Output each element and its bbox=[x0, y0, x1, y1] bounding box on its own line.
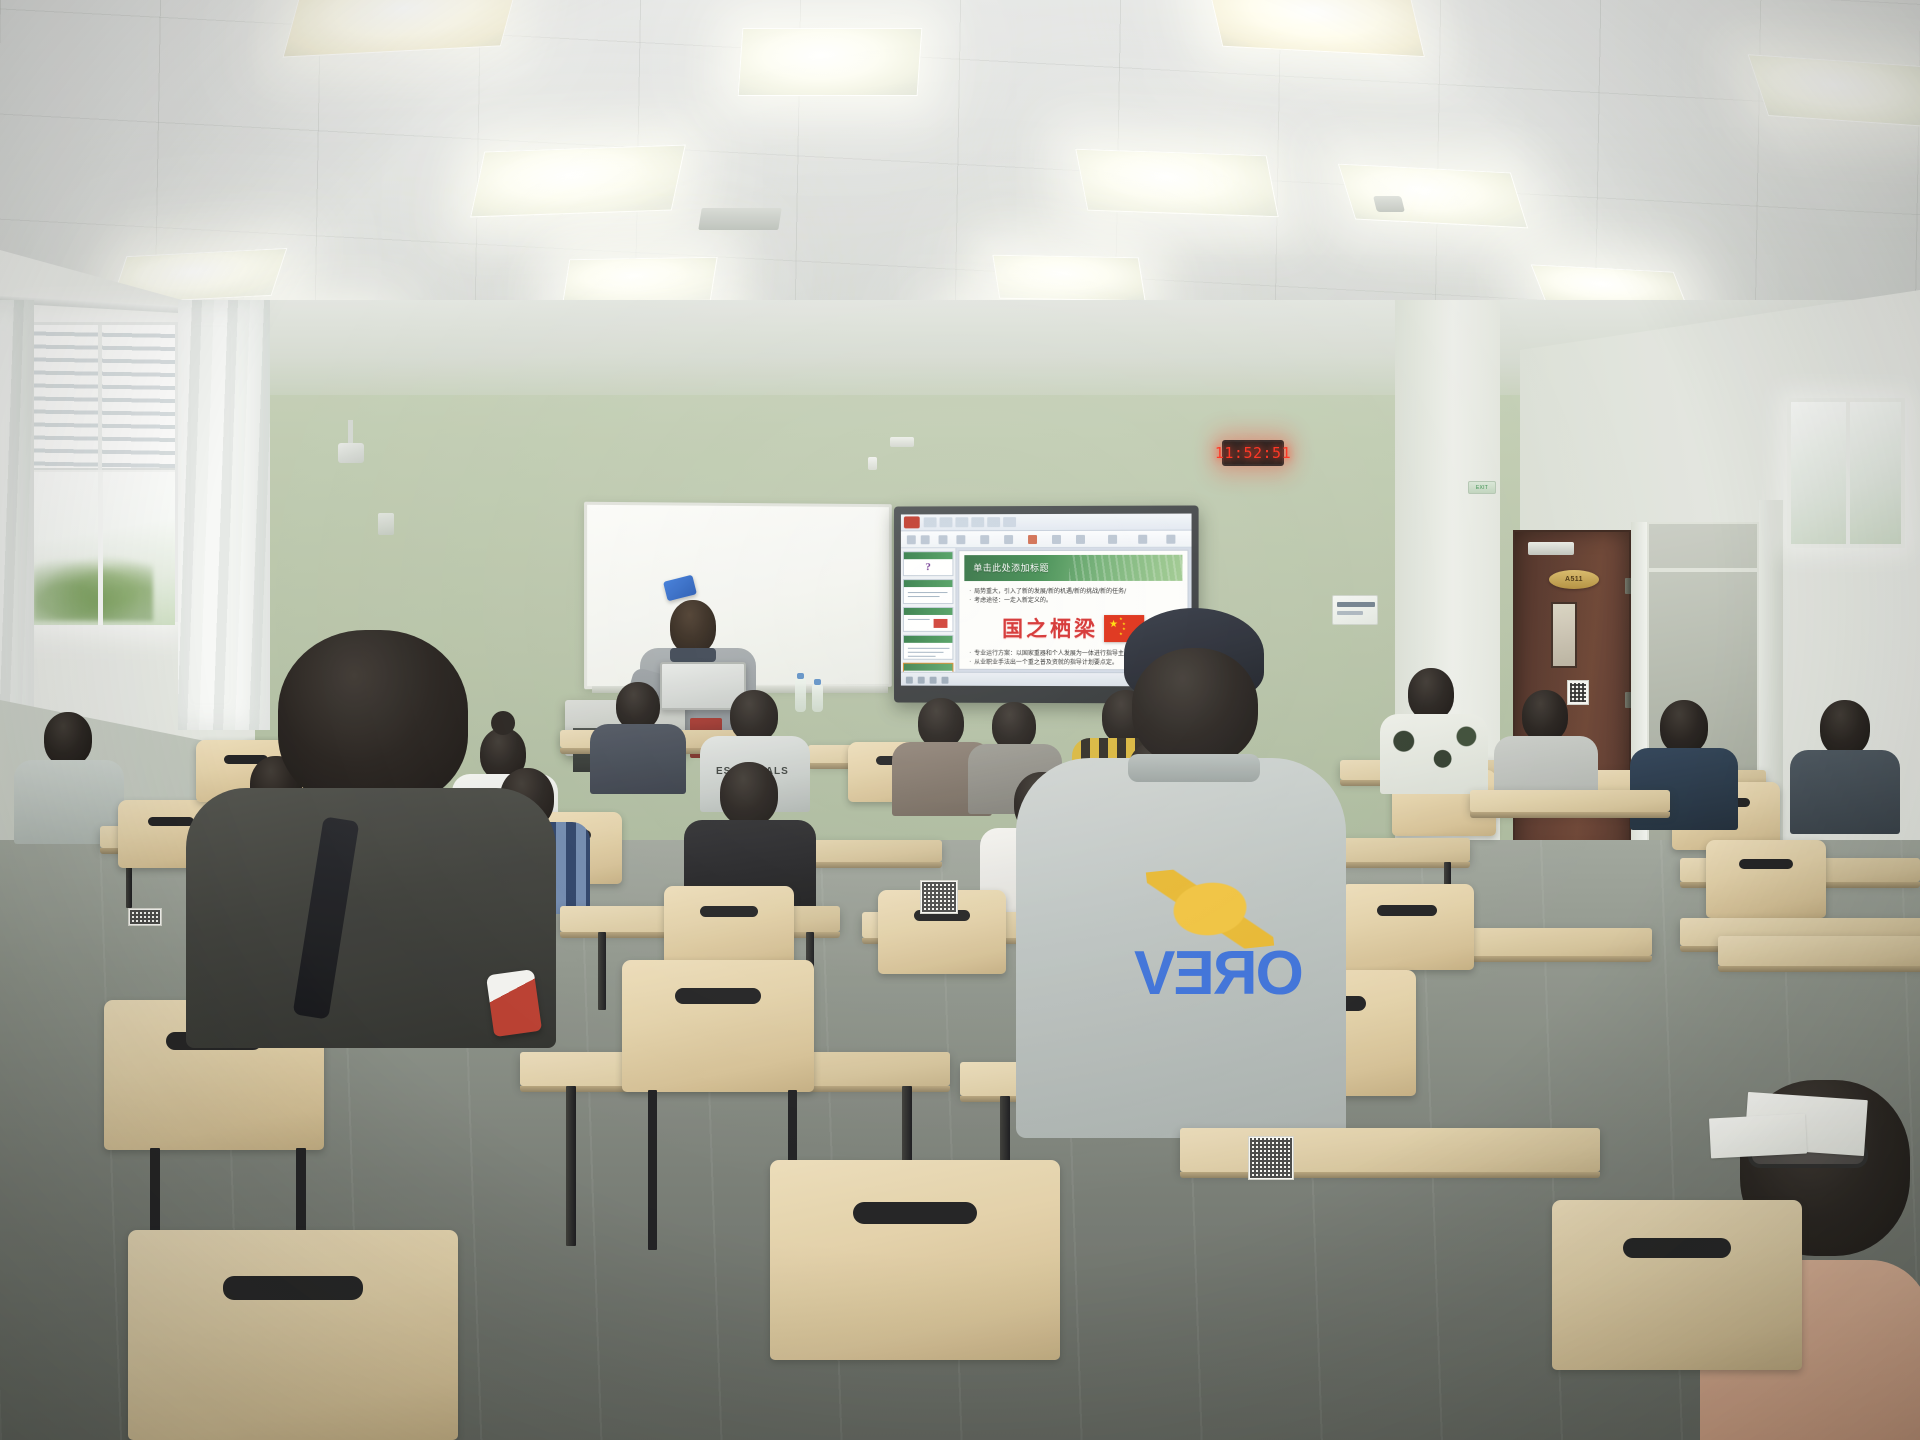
bottle-cap bbox=[814, 679, 821, 685]
thumbnail-flag-image bbox=[934, 619, 948, 628]
ribbon-button[interactable] bbox=[980, 535, 989, 544]
thumbnail-text-line bbox=[908, 648, 950, 649]
slide-bullet: · 考虑途径：一走入新定义的。 bbox=[969, 596, 1179, 605]
chair-leg bbox=[648, 1090, 657, 1250]
qr-code-icon bbox=[1250, 1138, 1292, 1178]
paper-sheet[interactable] bbox=[1709, 1114, 1807, 1159]
slide-title: 单击此处添加标题 bbox=[973, 561, 1049, 574]
desk-leg bbox=[598, 932, 606, 1010]
student-chair[interactable] bbox=[128, 1230, 458, 1440]
ribbon-button[interactable] bbox=[921, 535, 930, 544]
ceiling-light-panel bbox=[992, 255, 1145, 302]
ribbon-button[interactable] bbox=[1076, 535, 1085, 544]
desk-qr-sticker[interactable] bbox=[920, 880, 958, 914]
ribbon-button[interactable] bbox=[939, 535, 948, 544]
ceiling-light-panel bbox=[1075, 149, 1279, 218]
student-head bbox=[720, 762, 778, 826]
chair-handle-cutout bbox=[675, 988, 761, 1004]
slide-thumbnail-rail[interactable] bbox=[901, 548, 956, 672]
statusbar-button[interactable] bbox=[918, 677, 925, 684]
student-seated bbox=[590, 682, 686, 782]
powerpoint-titlebar bbox=[901, 514, 1192, 532]
desk-leg bbox=[566, 1086, 576, 1246]
desk-qr-sticker[interactable] bbox=[128, 908, 162, 926]
student-desk bbox=[1718, 936, 1920, 966]
classroom-photo: 单击此处添加标题 · 局势重大，引入了新的发展/新的机遇/新的挑战/新的任务/ … bbox=[0, 0, 1920, 1440]
student-chair[interactable] bbox=[770, 1160, 1060, 1360]
qr-code-icon bbox=[130, 910, 160, 924]
window-with-blinds bbox=[18, 322, 178, 622]
ribbon-button[interactable] bbox=[956, 535, 965, 544]
slide-thumbnail[interactable] bbox=[903, 551, 954, 576]
student-chair[interactable] bbox=[664, 886, 794, 970]
chair-handle-cutout bbox=[1623, 1238, 1731, 1258]
student-head bbox=[730, 690, 778, 742]
student-head bbox=[1820, 700, 1870, 756]
panel-display-strip bbox=[1337, 602, 1375, 607]
water-bottle[interactable] bbox=[812, 684, 823, 712]
jacket-graphic-text: OREV bbox=[1136, 938, 1304, 1009]
window-mullion bbox=[98, 472, 103, 625]
wall-led-clock: 11:52:51 bbox=[1222, 440, 1284, 466]
thumbnail-text-line bbox=[908, 652, 944, 653]
student-chair[interactable] bbox=[1340, 884, 1474, 970]
ribbon-tab[interactable] bbox=[955, 517, 968, 527]
ribbon-tab[interactable] bbox=[940, 517, 953, 527]
chair-handle-cutout bbox=[1739, 859, 1793, 869]
student-head bbox=[1132, 648, 1258, 766]
chair-backrest bbox=[1706, 840, 1826, 918]
statusbar-button[interactable] bbox=[942, 677, 949, 684]
motion-sensor bbox=[868, 457, 877, 470]
thumbnail-text-line bbox=[908, 592, 948, 593]
student-chair[interactable] bbox=[1552, 1200, 1802, 1370]
thumbnail-header-band bbox=[904, 552, 953, 559]
clock-time: 11:52:51 bbox=[1215, 444, 1291, 462]
presenter-head bbox=[670, 600, 716, 654]
student-desk bbox=[1180, 1128, 1600, 1172]
statusbar-button[interactable] bbox=[906, 677, 913, 684]
blind-mullion bbox=[98, 325, 102, 470]
ribbon-button[interactable] bbox=[1166, 535, 1175, 544]
ribbon-button[interactable] bbox=[1138, 535, 1147, 544]
student-foreground-security-jacket: OREV bbox=[1016, 608, 1356, 1148]
student-foreground-left bbox=[186, 630, 556, 1030]
student-head bbox=[1522, 690, 1568, 742]
bullet-dot: · bbox=[969, 649, 971, 658]
student-head bbox=[918, 698, 964, 748]
slide-thumbnail[interactable] bbox=[903, 579, 954, 604]
presenter-collar bbox=[670, 648, 716, 662]
bullet-dot: · bbox=[969, 587, 971, 596]
student-seated bbox=[1790, 700, 1900, 824]
student-head bbox=[616, 682, 660, 730]
ceiling-light-panel bbox=[562, 257, 717, 304]
chair-backrest bbox=[770, 1160, 1060, 1360]
student-head bbox=[1660, 700, 1708, 754]
slide-bullets-top: · 局势重大，引入了新的发展/新的机遇/新的挑战/新的任务/ · 考虑途径：一走… bbox=[969, 587, 1179, 606]
slide-thumbnail[interactable] bbox=[903, 635, 954, 660]
ceiling-air-vent bbox=[698, 208, 781, 230]
slide-thumbnail[interactable] bbox=[903, 607, 954, 632]
smoke-detector-wall bbox=[890, 437, 914, 447]
ribbon-button[interactable] bbox=[1004, 535, 1013, 544]
sneaker bbox=[486, 969, 542, 1037]
chair-handle-cutout bbox=[223, 1276, 363, 1300]
thumbnail-header-band bbox=[904, 580, 953, 587]
outside-foliage bbox=[33, 551, 153, 621]
room-number-plaque: A511 bbox=[1549, 570, 1599, 589]
projector-unit bbox=[338, 443, 364, 463]
chair-backrest bbox=[1340, 884, 1474, 970]
ribbon-button[interactable] bbox=[1108, 535, 1117, 544]
student-seated bbox=[14, 712, 124, 838]
thumbnail-text-line bbox=[908, 619, 930, 620]
chair-handle-cutout bbox=[853, 1202, 977, 1224]
door-vision-panel bbox=[1551, 602, 1577, 668]
ribbon-tab[interactable] bbox=[924, 517, 937, 527]
student-chair[interactable] bbox=[1706, 840, 1826, 918]
bullet-dot: · bbox=[969, 658, 971, 667]
student-seated bbox=[1380, 668, 1488, 784]
sidelight-mullion bbox=[1649, 568, 1757, 572]
student-seated bbox=[1494, 690, 1598, 806]
window-sash bbox=[1846, 402, 1850, 544]
ribbon-tab[interactable] bbox=[971, 517, 984, 527]
student-seated bbox=[684, 762, 816, 906]
chair-backrest bbox=[1552, 1200, 1802, 1370]
ribbon-tab[interactable] bbox=[987, 517, 1000, 527]
chair-backrest bbox=[128, 1230, 458, 1440]
chair-handle-cutout bbox=[1377, 905, 1437, 916]
student-torso bbox=[590, 724, 686, 794]
wall-speaker bbox=[378, 513, 394, 535]
bottle-cap bbox=[797, 673, 804, 679]
slide-bullet-text: 局势重大，引入了新的发展/新的机遇/新的挑战/新的任务/ bbox=[974, 587, 1126, 596]
student-head bbox=[1408, 668, 1454, 720]
ribbon-button[interactable] bbox=[907, 535, 916, 544]
bullet-dot: · bbox=[969, 596, 971, 605]
corridor-window bbox=[1787, 398, 1905, 548]
slide-header-banner: 单击此处添加标题 bbox=[964, 555, 1182, 581]
student-head bbox=[44, 712, 92, 766]
qr-code-icon bbox=[922, 882, 956, 912]
ceiling-smoke-detector bbox=[1373, 196, 1405, 212]
thumbnail-header-band bbox=[904, 664, 953, 671]
chair-backrest bbox=[622, 960, 814, 1092]
student-floral-shirt bbox=[1380, 714, 1488, 794]
thumbnail-header-band bbox=[904, 636, 953, 643]
thumbnail-text-line bbox=[908, 656, 936, 657]
powerpoint-logo-icon bbox=[904, 516, 920, 528]
ceiling-light-panel bbox=[470, 145, 686, 218]
exit-sign: EXIT bbox=[1468, 481, 1496, 494]
student-chair[interactable] bbox=[622, 960, 814, 1092]
desk-qr-sticker[interactable] bbox=[1248, 1136, 1294, 1180]
slide-thumbnail[interactable] bbox=[903, 663, 954, 672]
chair-handle-cutout bbox=[700, 906, 758, 917]
exit-sign-label: EXIT bbox=[1476, 485, 1488, 491]
thumbnail-text-line bbox=[908, 596, 940, 597]
ribbon-button[interactable] bbox=[1028, 535, 1037, 544]
student-seated bbox=[630, 886, 660, 916]
statusbar-button[interactable] bbox=[930, 677, 937, 684]
ceiling-light-panel bbox=[1338, 164, 1528, 229]
slide-bullet: · 局势重大，引入了新的发展/新的机遇/新的挑战/新的任务/ bbox=[969, 587, 1179, 596]
ceiling-light-panel bbox=[738, 28, 923, 96]
student-head bbox=[278, 630, 468, 806]
jacket-collar bbox=[1128, 754, 1260, 782]
powerpoint-ribbon[interactable] bbox=[901, 531, 1192, 549]
student-torso bbox=[1790, 750, 1900, 834]
slide-bullet-text: 考虑途径：一走入新定义的。 bbox=[974, 596, 1052, 605]
ribbon-tab[interactable] bbox=[1003, 517, 1016, 527]
door-closer bbox=[1528, 542, 1574, 555]
student-desk bbox=[1470, 790, 1670, 812]
room-number: A511 bbox=[1565, 576, 1583, 583]
thumbnail-header-band bbox=[904, 608, 953, 615]
ribbon-button[interactable] bbox=[1052, 535, 1061, 544]
chair-backrest bbox=[664, 886, 794, 970]
